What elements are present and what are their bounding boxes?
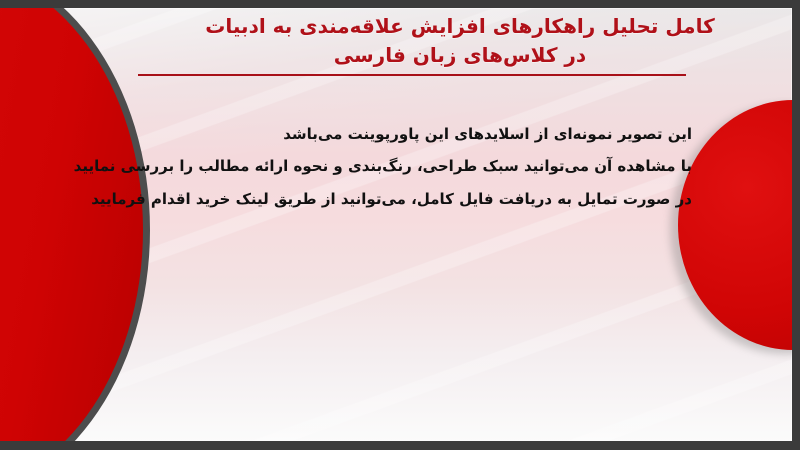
slide-title-line-2: در کلاس‌های زبان فارسی: [150, 41, 770, 70]
slide-title: کامل تحلیل راهکارهای افزایش علاقه‌مندی ب…: [150, 12, 770, 70]
presentation-slide: کامل تحلیل راهکارهای افزایش علاقه‌مندی ب…: [0, 0, 800, 450]
slide-body-line-3: در صورت تمایل به دریافت فایل کامل، می‌تو…: [120, 183, 692, 215]
slide-body-line-1: این تصویر نمونه‌ای از اسلایدهای این پاور…: [120, 118, 692, 150]
slide-body: این تصویر نمونه‌ای از اسلایدهای این پاور…: [120, 118, 692, 215]
title-underline: [138, 74, 686, 76]
frame-right-band: [792, 0, 800, 450]
left-decoration-group: [0, 0, 150, 450]
frame-bottom-band: [0, 441, 800, 450]
red-lens-shape: [0, 0, 150, 450]
slide-body-line-2: با مشاهده آن می‌توانید سبک طراحی، رنگ‌بن…: [120, 150, 692, 182]
frame-top-band: [0, 0, 800, 8]
slide-title-line-1: کامل تحلیل راهکارهای افزایش علاقه‌مندی ب…: [150, 12, 770, 41]
